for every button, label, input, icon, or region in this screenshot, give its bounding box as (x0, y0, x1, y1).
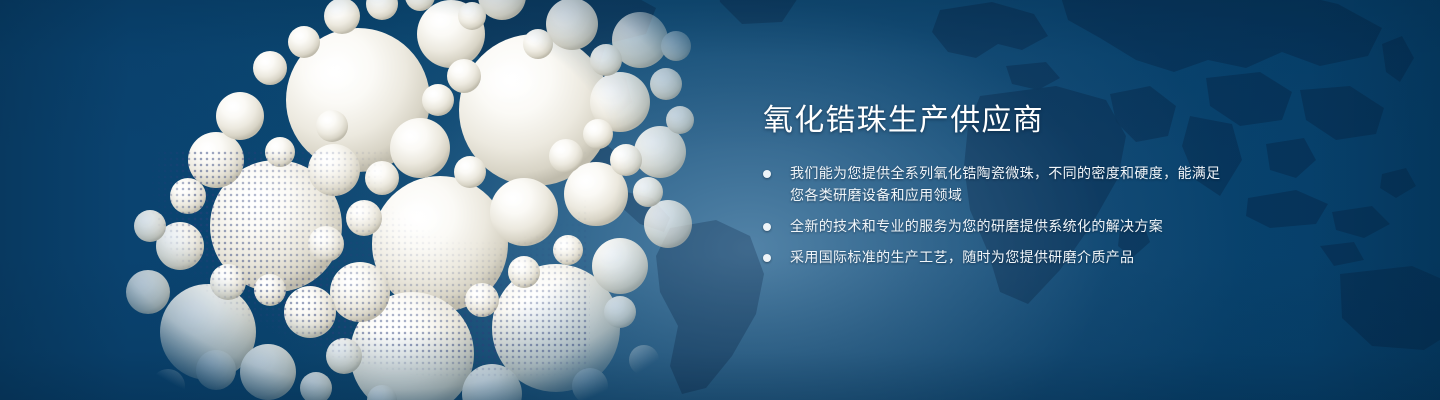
bullet-dot-icon (763, 223, 771, 231)
bullet-text: 全新的技术和专业的服务为您的研磨提供系统化的解决方案 (790, 219, 1163, 235)
bullet-dot-icon (763, 170, 771, 178)
list-item: 采用国际标准的生产工艺，随时为您提供研磨介质产品 (763, 247, 1233, 269)
bullet-text: 采用国际标准的生产工艺，随时为您提供研磨介质产品 (790, 250, 1134, 266)
list-item: 我们能为您提供全系列氧化锆陶瓷微珠，不同的密度和硬度，能满足您各类研磨设备和应用… (763, 163, 1233, 207)
zirconia-beads-photo (120, 0, 720, 400)
bullet-dot-icon (763, 254, 771, 262)
page-title: 氧化锆珠生产供应商 (763, 104, 1233, 137)
banner-copy-block: 氧化锆珠生产供应商 我们能为您提供全系列氧化锆陶瓷微珠，不同的密度和硬度，能满足… (763, 104, 1233, 269)
hero-banner: 氧化锆珠生产供应商 我们能为您提供全系列氧化锆陶瓷微珠，不同的密度和硬度，能满足… (0, 0, 1440, 400)
feature-bullet-list: 我们能为您提供全系列氧化锆陶瓷微珠，不同的密度和硬度，能满足您各类研磨设备和应用… (763, 163, 1233, 269)
list-item: 全新的技术和专业的服务为您的研磨提供系统化的解决方案 (763, 216, 1233, 238)
bullet-text: 我们能为您提供全系列氧化锆陶瓷微珠，不同的密度和硬度，能满足您各类研磨设备和应用… (790, 166, 1221, 204)
